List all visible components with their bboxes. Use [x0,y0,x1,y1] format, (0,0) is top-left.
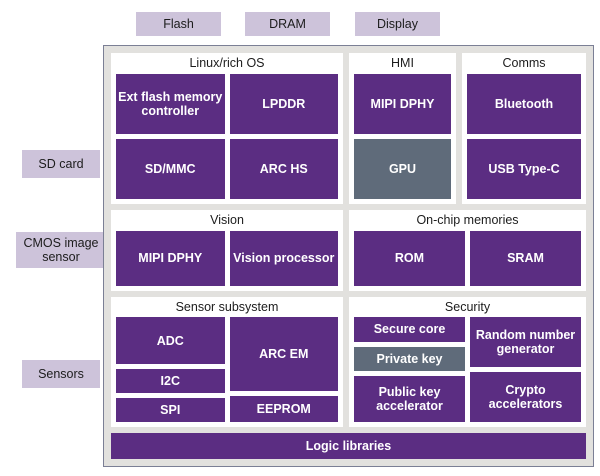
ip-block-gpu[interactable]: GPU [354,139,451,199]
panel-linux-rich-os: Linux/rich OS Ext flash memory controlle… [111,53,343,204]
chip-row-bottom: Sensor subsystem ADC I2C SPI ARC EM EEPR… [111,297,586,427]
ip-block-sram[interactable]: SRAM [470,231,581,286]
chip-row-middle: Vision MIPI DPHY Vision processor On-chi… [111,210,586,291]
ip-block-arc-em[interactable]: ARC EM [230,317,339,391]
panel-col-right: ARC EM EEPROM [230,317,339,422]
panel-title-security: Security [354,301,581,318]
external-label-sensors: Sensors [22,360,100,388]
chip-row-top: Linux/rich OS Ext flash memory controlle… [111,53,586,204]
panel-col-right: Random number generator Crypto accelerat… [470,317,581,422]
panel-col-left: Secure core Private key Public key accel… [354,317,465,422]
ip-block-spi[interactable]: SPI [116,398,225,422]
ip-block-random-number-generator[interactable]: Random number generator [470,317,581,367]
panel-body-vision: MIPI DPHY Vision processor [116,231,338,286]
ip-block-eeprom[interactable]: EEPROM [230,396,339,422]
panel-on-chip-memories: On-chip memories ROM SRAM [349,210,586,291]
ip-block-vision-processor[interactable]: Vision processor [230,231,339,286]
panel-col-single: Bluetooth USB Type-C [467,74,581,199]
panel-title-linux-rich-os: Linux/rich OS [116,57,338,74]
ip-block-usb-type-c[interactable]: USB Type-C [467,139,581,199]
ip-block-lpddr[interactable]: LPDDR [230,74,339,134]
external-label-display: Display [355,12,440,36]
panel-vision: Vision MIPI DPHY Vision processor [111,210,343,291]
panel-security: Security Secure core Private key Public … [349,297,586,427]
panel-body-comms: Bluetooth USB Type-C [467,74,581,199]
ip-block-adc[interactable]: ADC [116,317,225,363]
ip-block-sd-mmc[interactable]: SD/MMC [116,139,225,199]
panel-title-comms: Comms [467,57,581,74]
panel-title-on-chip-memories: On-chip memories [354,214,581,231]
ip-block-bluetooth[interactable]: Bluetooth [467,74,581,134]
ip-block-arc-hs[interactable]: ARC HS [230,139,339,199]
panel-body-on-chip-memories: ROM SRAM [354,231,581,286]
external-label-sd-card: SD card [22,150,100,178]
panel-title-hmi: HMI [354,57,451,74]
ip-block-public-key-accelerator[interactable]: Public key accelerator [354,376,465,422]
panel-body-hmi: MIPI DPHY GPU [354,74,451,199]
ip-block-i2c[interactable]: I2C [116,369,225,393]
panel-col-left: MIPI DPHY [116,231,225,286]
ip-block-logic-libraries[interactable]: Logic libraries [111,433,586,459]
panel-col-single: MIPI DPHY GPU [354,74,451,199]
panel-col-left: Ext flash memory controller SD/MMC [116,74,225,199]
soc-chip-frame: Linux/rich OS Ext flash memory controlle… [103,45,594,467]
panel-title-sensor-subsystem: Sensor subsystem [116,301,338,318]
panel-col-right: SRAM [470,231,581,286]
panel-body-linux-rich-os: Ext flash memory controller SD/MMC LPDDR… [116,74,338,199]
ip-block-rom[interactable]: ROM [354,231,465,286]
panel-body-security: Secure core Private key Public key accel… [354,317,581,422]
panel-col-left: ROM [354,231,465,286]
panel-col-left: ADC I2C SPI [116,317,225,422]
panel-hmi: HMI MIPI DPHY GPU [349,53,456,204]
panel-col-right: LPDDR ARC HS [230,74,339,199]
ip-block-mipi-dphy-hmi[interactable]: MIPI DPHY [354,74,451,134]
ip-block-private-key[interactable]: Private key [354,347,465,371]
panel-comms: Comms Bluetooth USB Type-C [462,53,586,204]
panel-sensor-subsystem: Sensor subsystem ADC I2C SPI ARC EM EEPR… [111,297,343,427]
panel-col-right: Vision processor [230,231,339,286]
external-label-flash: Flash [136,12,221,36]
ip-block-mipi-dphy-vision[interactable]: MIPI DPHY [116,231,225,286]
external-label-dram: DRAM [245,12,330,36]
panel-title-vision: Vision [116,214,338,231]
ip-block-crypto-accelerators[interactable]: Crypto accelerators [470,372,581,422]
ip-block-secure-core[interactable]: Secure core [354,317,465,341]
ip-block-ext-flash-memory-controller[interactable]: Ext flash memory controller [116,74,225,134]
panel-body-sensor-subsystem: ADC I2C SPI ARC EM EEPROM [116,317,338,422]
external-label-cmos-image-sensor: CMOS image sensor [16,232,106,268]
